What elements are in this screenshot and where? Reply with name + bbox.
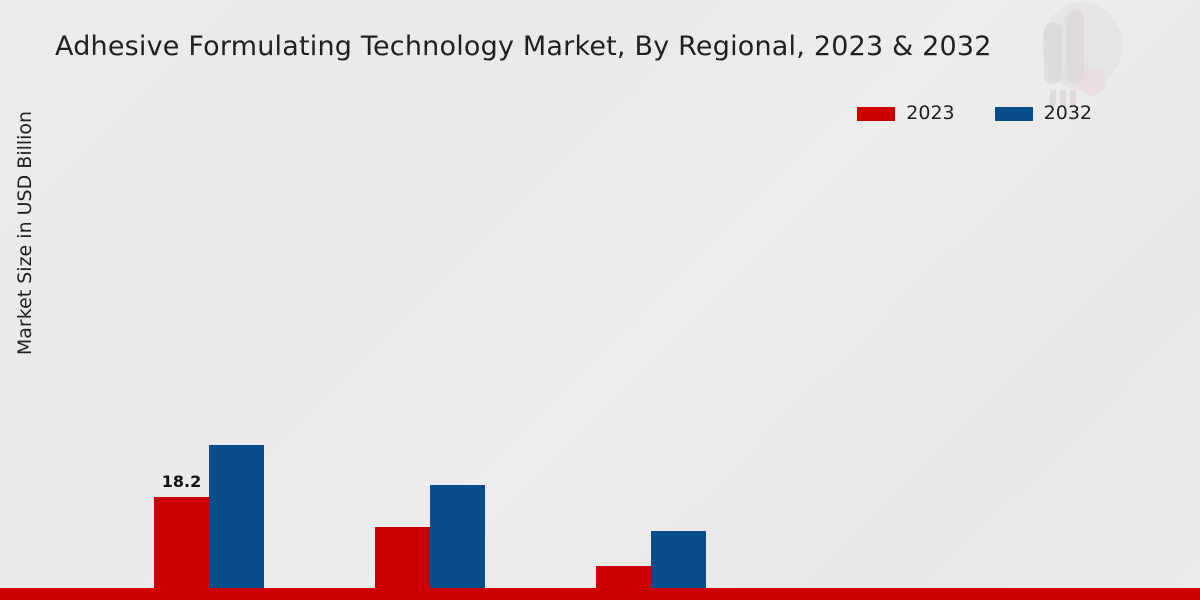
legend-swatch-2032-icon: [995, 107, 1033, 121]
bar-group: [375, 140, 485, 600]
legend-item-2032[interactable]: 2032: [995, 104, 1092, 123]
plot-area: 18.2 NORTHAMERICAEUROPEAPACSOUTHAMERICAM…: [44, 140, 1156, 515]
bar-value-label: 18.2: [162, 472, 201, 491]
bar-2032-europe[interactable]: [430, 485, 485, 600]
legend-item-2023[interactable]: 2023: [857, 104, 954, 123]
bar-group: [1038, 140, 1148, 600]
bar-group: [596, 140, 706, 600]
legend-label-2023: 2023: [906, 104, 954, 123]
bar-2032-north-america[interactable]: [209, 445, 264, 600]
legend-swatch-2023-icon: [857, 107, 895, 121]
footer-accent-strip: [0, 588, 1200, 600]
chart-legend: 2023 2032: [857, 104, 1092, 123]
chart-container: Adhesive Formulating Technology Market, …: [0, 0, 1200, 600]
bar-group: 18.2: [154, 140, 264, 600]
chart-title: Adhesive Formulating Technology Market, …: [55, 31, 992, 62]
bar-2023-north-america[interactable]: 18.2: [154, 497, 209, 600]
legend-label-2032: 2032: [1044, 104, 1092, 123]
y-axis-title: Market Size in USD Billion: [14, 68, 36, 398]
bar-group: [817, 140, 927, 600]
